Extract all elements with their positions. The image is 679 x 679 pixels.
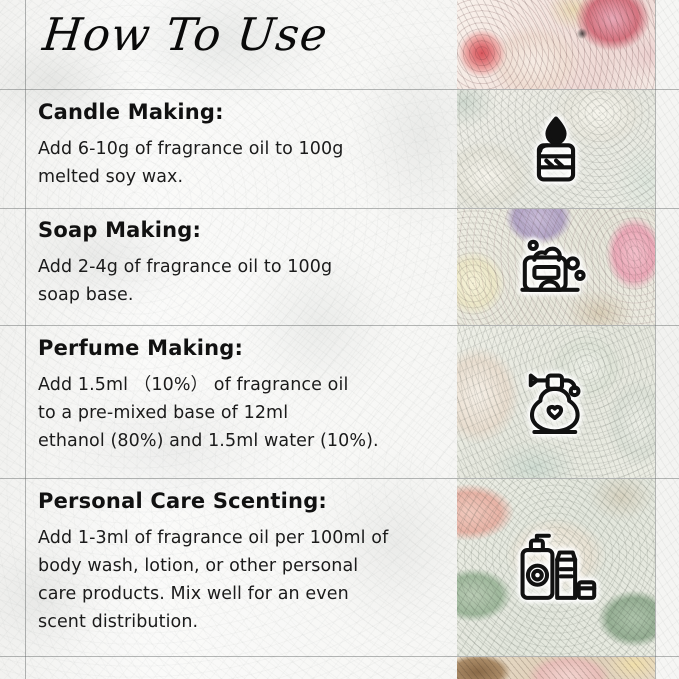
- divider-1: [0, 89, 679, 90]
- section-heading: Candle Making:: [38, 100, 443, 124]
- divider-5: [0, 656, 679, 657]
- divider-3: [0, 325, 679, 326]
- photo-desk: [457, 657, 655, 679]
- section-personal-care-scenting: Personal Care Scenting: Add 1-3ml of fra…: [38, 489, 443, 636]
- section-heading: Perfume Making:: [38, 336, 443, 360]
- section-body: Add 2-4g of fragrance oil to 100g soap b…: [38, 253, 443, 309]
- section-body: Add 6-10g of fragrance oil to 100g melte…: [38, 135, 443, 191]
- photo-lily: [457, 326, 655, 478]
- right-margin-strip: [656, 0, 679, 679]
- photo-column: [457, 0, 655, 679]
- section-heading: Soap Making:: [38, 218, 443, 242]
- photo-soap-flowers: [457, 209, 655, 325]
- divider-2: [0, 208, 679, 209]
- page-title: How To Use: [40, 8, 330, 61]
- divider-4: [0, 478, 679, 479]
- section-perfume-making: Perfume Making: Add 1.5ml （10%） of fragr…: [38, 336, 443, 455]
- photo-roses: [457, 0, 655, 89]
- right-rule: [655, 0, 656, 679]
- section-body: Add 1-3ml of fragrance oil per 100ml of …: [38, 524, 443, 636]
- section-soap-making: Soap Making: Add 2-4g of fragrance oil t…: [38, 218, 443, 309]
- section-body: Add 1.5ml （10%） of fragrance oil to a pr…: [38, 371, 443, 455]
- left-rule: [25, 0, 26, 679]
- section-heading: Personal Care Scenting:: [38, 489, 443, 513]
- photo-pale-flowers: [457, 90, 655, 208]
- how-to-use-infographic: How To Use Candle Making: Add 6-10g of f…: [0, 0, 679, 679]
- photo-leaves: [457, 479, 655, 656]
- section-candle-making: Candle Making: Add 6-10g of fragrance oi…: [38, 100, 443, 191]
